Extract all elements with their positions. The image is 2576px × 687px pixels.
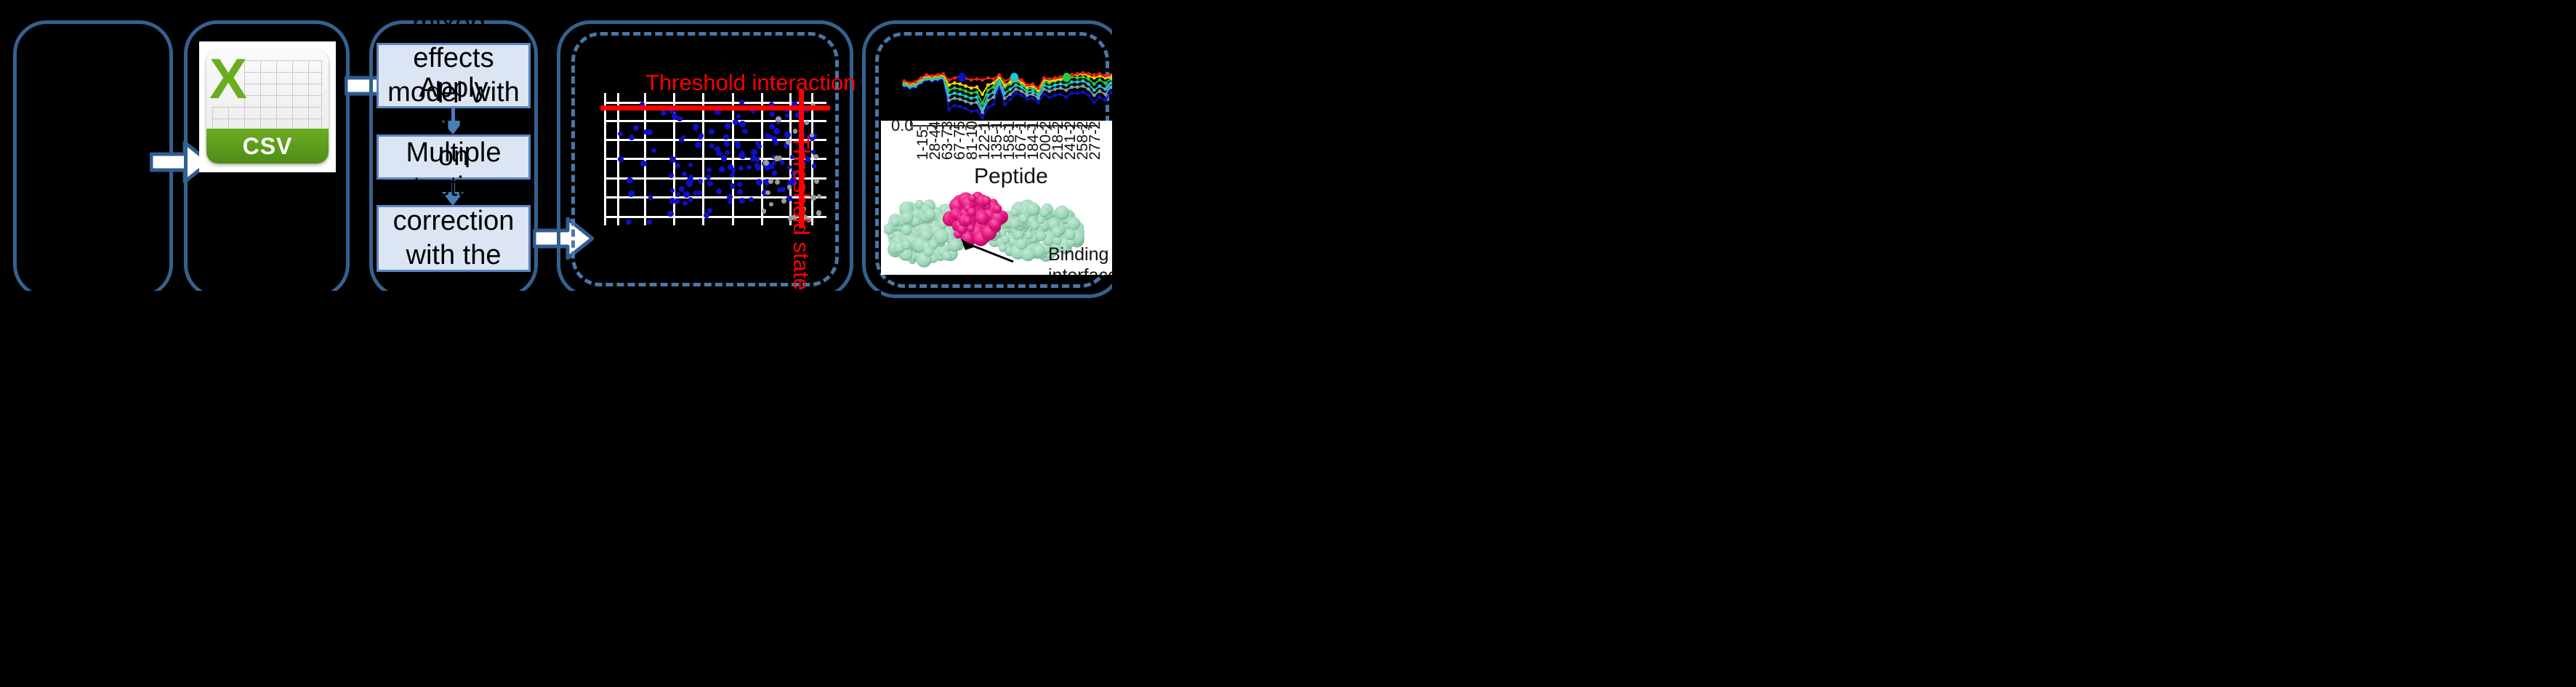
scatter-point [746, 165, 751, 169]
line-point [1059, 87, 1063, 90]
line-point [1070, 85, 1074, 89]
line-point [986, 84, 990, 87]
line-point [1064, 84, 1068, 87]
scatter-point-alt [805, 121, 809, 125]
scatter-point [628, 190, 635, 197]
line-point [1003, 103, 1007, 106]
line-point [1053, 84, 1057, 87]
scatter-point [661, 111, 667, 116]
scatter-point [724, 141, 730, 147]
line-point [992, 77, 996, 81]
scatter-point-alt [814, 179, 819, 184]
step-bh-box[interactable]: Multiple testing correction with the BH … [377, 205, 531, 272]
scatter-point [707, 181, 712, 186]
csv-icon-label: CSV [243, 133, 293, 160]
line-point [1009, 97, 1013, 101]
scatter-point [739, 121, 746, 127]
line-point [1042, 92, 1046, 96]
scatter-point [725, 123, 731, 129]
line-point [1064, 89, 1068, 92]
protein-surface-blob [901, 225, 912, 236]
scatter-point [618, 132, 622, 136]
line-point [1082, 71, 1085, 75]
line-point [1037, 87, 1040, 90]
scatter-point [739, 100, 744, 105]
scatter-point-alt [816, 210, 822, 216]
scatter-point [719, 166, 725, 172]
csv-icon-band: CSV [206, 129, 329, 164]
scatter-point [723, 134, 728, 140]
line-point [1076, 85, 1079, 89]
scatter-point [751, 149, 757, 155]
scatter-point [683, 201, 688, 206]
line-point [925, 73, 928, 77]
protein-surface-blob [949, 239, 961, 252]
line-point [1098, 84, 1102, 88]
scatter-point [651, 148, 656, 153]
scatter-point [755, 157, 760, 161]
ligand-surface-blob [968, 194, 976, 202]
scatter-point [765, 166, 770, 171]
line-point [1082, 79, 1085, 83]
line-point [947, 79, 951, 82]
line-point [1037, 100, 1040, 104]
line-point [1031, 92, 1034, 96]
ligand-surface-blob [975, 212, 989, 225]
line-point [953, 92, 957, 95]
scatter-point-alt [781, 198, 786, 203]
line-point [947, 84, 951, 87]
line-point [1092, 76, 1096, 80]
scatter-point [626, 220, 631, 225]
scatter-point [706, 174, 711, 180]
line-point [947, 99, 951, 103]
line-point [1076, 92, 1079, 95]
scatter-point [669, 173, 674, 178]
protein-surface-blob [1024, 231, 1033, 240]
scatter-point-alt [769, 202, 773, 206]
line-point [1070, 80, 1074, 84]
scatter-point-alt [765, 190, 770, 195]
mask-top-right [1112, 0, 2576, 687]
scatter-point [737, 189, 743, 195]
scatter-point [629, 134, 635, 140]
line-point [1037, 94, 1040, 97]
line-point [903, 79, 906, 83]
scatter-point [739, 198, 745, 204]
input-panel [13, 20, 173, 298]
line-point [930, 74, 934, 78]
scatter-point [730, 172, 735, 177]
scatter-point [733, 119, 738, 124]
line-point [914, 80, 917, 84]
line-point [1092, 89, 1096, 92]
line-point [1103, 81, 1107, 85]
line-point [986, 89, 990, 92]
scatter-point [675, 164, 680, 168]
scatter-point [725, 150, 730, 156]
line-point [1026, 97, 1029, 101]
scatter-point [749, 197, 754, 202]
line-point [970, 102, 973, 105]
scatter-point [695, 142, 701, 148]
scatter-point [770, 111, 776, 117]
scatter-point-alt [775, 180, 780, 185]
protein-surface-blob [1016, 238, 1027, 249]
scatter-point [618, 156, 624, 162]
ligand-surface-blob [993, 204, 1002, 213]
line-point [997, 73, 1001, 77]
line-point [1003, 97, 1007, 100]
line-point [981, 102, 984, 105]
line-point [1037, 97, 1040, 100]
scatter-point [709, 129, 715, 134]
threshold-interaction-label: Threshold interaction [645, 70, 856, 96]
threshold-state-label: Threshold state [788, 135, 814, 291]
scatter-point [780, 160, 785, 165]
legend-dot-green [1063, 73, 1071, 82]
scatter-point [750, 156, 755, 161]
line-point [1059, 75, 1063, 79]
scatter-point [772, 161, 776, 165]
scatter-point-alt [813, 154, 818, 159]
protein-surface-blob [923, 246, 933, 257]
scatter-point [667, 211, 674, 217]
protein-surface-blob [1064, 229, 1075, 240]
csv-file-icon: X CSV [199, 41, 336, 172]
scatter-point [693, 126, 697, 131]
line-point [992, 103, 996, 106]
line-point [964, 95, 967, 98]
scatter-point [688, 197, 693, 201]
line-point [1082, 75, 1085, 79]
line-point [1014, 87, 1018, 91]
line-point [1020, 94, 1023, 97]
protein-surface-blob [1055, 206, 1069, 220]
line-point [992, 90, 996, 94]
protein-surface-blob [1032, 244, 1045, 257]
line-point [958, 97, 962, 101]
protein-surface-blob [999, 244, 1007, 252]
scatter-point-alt [793, 129, 797, 133]
protein-surface-blob [1067, 217, 1080, 230]
ligand-surface-blob [967, 225, 975, 233]
line-point [1020, 79, 1023, 82]
line-point [1053, 76, 1057, 80]
protein-surface-blob [1014, 230, 1023, 240]
line-point [1026, 84, 1029, 87]
line-point [981, 111, 984, 114]
line-point [970, 92, 973, 95]
line-point [1103, 92, 1107, 96]
line-point [1087, 82, 1090, 86]
protein-surface-blob [924, 209, 935, 220]
line-point [981, 92, 984, 96]
scatter-point [693, 190, 699, 196]
scatter-point-alt [776, 116, 781, 121]
scatter-point [742, 129, 747, 134]
protein-surface-blob [1009, 217, 1020, 228]
line-point [947, 94, 951, 97]
line-point [1003, 84, 1007, 87]
legend-dot-cyan [1010, 73, 1018, 82]
line-point [1098, 79, 1102, 82]
scatter-point [709, 143, 715, 148]
line-point [981, 108, 984, 111]
line-point [1053, 94, 1057, 97]
scatter-point [772, 170, 778, 176]
scatter-point [738, 166, 744, 171]
peptide-axis-structure-card: 0.0 1-1528-4463-7367-7581-101122-129135-… [881, 121, 1112, 275]
line-point [992, 95, 996, 99]
scatter-point [647, 220, 652, 225]
line-point [970, 97, 973, 100]
protein-surface-blob [1039, 207, 1050, 217]
line-point [981, 116, 984, 119]
line-point [919, 76, 923, 80]
scatter-point [675, 193, 680, 197]
line-point [992, 81, 996, 85]
ligand-surface-blob [963, 216, 972, 225]
scatter-point [646, 129, 652, 135]
line-point [1103, 87, 1107, 91]
threshold-interaction-line [600, 105, 830, 111]
line-point [975, 90, 979, 94]
scatter-point [730, 183, 736, 189]
protein-surface-blob [1026, 202, 1039, 216]
line-point [1009, 87, 1013, 91]
line-point [986, 105, 990, 109]
line-point [1003, 92, 1007, 95]
line-point [1092, 82, 1096, 86]
line-point [953, 97, 957, 100]
line-point [941, 72, 945, 76]
line-point [970, 79, 973, 82]
line-point [1082, 84, 1085, 88]
line-point [981, 79, 984, 82]
scatter-point [736, 114, 741, 118]
line-point [1009, 92, 1013, 96]
line-point [1047, 85, 1051, 89]
ligand-surface-blob [989, 218, 1002, 231]
line-point [953, 76, 957, 80]
protein-surface-blob [901, 212, 914, 225]
protein-surface-blob [1037, 217, 1045, 224]
line-point [1053, 87, 1057, 91]
line-point [1098, 95, 1102, 99]
scatter-point [675, 199, 680, 204]
line-point [1082, 90, 1085, 94]
scatter-point [716, 150, 722, 156]
scatter-point [681, 135, 685, 140]
line-point [1064, 95, 1068, 99]
line-point [1092, 94, 1096, 97]
line-point [1042, 76, 1046, 80]
line-point [1076, 80, 1079, 84]
line-point [970, 110, 973, 113]
line-point [958, 92, 962, 96]
scatter-point [781, 187, 786, 192]
line-point [1026, 94, 1029, 97]
scatter-point [721, 155, 728, 161]
line-point [975, 77, 979, 81]
csv-icon-graphic: X CSV [206, 50, 329, 164]
workflow-diagram: X CSV Fit a linear mixed- effects model … [0, 0, 2576, 687]
line-point [1092, 100, 1096, 104]
line-point [1026, 90, 1029, 94]
line-point [975, 109, 979, 113]
line-point [1059, 92, 1063, 96]
line-point [1087, 72, 1090, 76]
line-point [953, 81, 957, 85]
scatter-point [736, 143, 741, 148]
line-point [1014, 92, 1018, 95]
line-point [1087, 77, 1090, 81]
scatter-point-alt [768, 179, 773, 184]
line-point [1087, 87, 1090, 91]
scatter-point-alt [763, 160, 768, 165]
line-point [1031, 82, 1034, 86]
line-point [1087, 94, 1090, 97]
scatter-point [707, 167, 712, 173]
scatter-point [682, 172, 687, 177]
line-point [1047, 77, 1051, 81]
scatter-point-alt [774, 156, 780, 161]
protein-surface-blob [1001, 235, 1010, 244]
line-point [1098, 72, 1102, 76]
line-point [953, 104, 957, 108]
mask-left-bottom [0, 298, 1122, 687]
scatter-point [755, 141, 760, 145]
line-point [1070, 92, 1074, 95]
scatter-point [756, 179, 762, 185]
scatter-point [698, 179, 703, 184]
line-point [958, 82, 962, 86]
line-point [1047, 95, 1051, 99]
scatter-point [627, 177, 632, 183]
gridline-h [604, 120, 826, 122]
line-point [964, 84, 967, 88]
line-point [986, 76, 990, 80]
line-point [908, 81, 911, 85]
binding-interface-annotation: Binding interface [1048, 244, 1112, 275]
line-point [1098, 89, 1102, 93]
line-point [953, 87, 957, 90]
ligand-surface-blob [981, 196, 991, 206]
protein-surface-blob [1018, 214, 1029, 224]
line-point [1103, 74, 1107, 78]
line-point [964, 89, 967, 93]
line-point [964, 100, 967, 103]
line-point [1092, 73, 1096, 77]
scatter-point [633, 125, 639, 131]
line-point [964, 107, 967, 111]
line-point [1076, 76, 1079, 80]
line-point [1020, 89, 1023, 93]
line-point [947, 108, 951, 111]
protein-surface-blob [891, 217, 900, 226]
scatter-point [737, 182, 742, 187]
line-point [958, 105, 962, 108]
scatter-point [688, 163, 693, 167]
scatter-point [648, 195, 653, 200]
scatter-point [716, 188, 723, 195]
line-point [975, 85, 979, 89]
scatter-point [728, 200, 732, 204]
scatter-point [669, 156, 676, 163]
line-point [1031, 97, 1034, 100]
ligand-surface-blob [967, 208, 976, 217]
x-axis-tick [911, 125, 913, 130]
protein-surface-blob [942, 252, 951, 261]
csv-icon-x-letter: X [208, 56, 249, 101]
protein-surface-blob [901, 239, 911, 249]
line-point [1003, 79, 1007, 83]
line-point [1047, 89, 1051, 93]
line-point [1059, 82, 1063, 86]
scatter-point-alt [762, 209, 767, 214]
line-point [947, 89, 951, 92]
legend-dot-blue [958, 73, 966, 82]
scatter-point [773, 128, 779, 134]
line-point [1076, 72, 1079, 76]
line-point [958, 87, 962, 91]
line-point [992, 85, 996, 89]
line-point [1103, 99, 1107, 103]
line-point [1031, 89, 1034, 93]
line-point [936, 73, 940, 77]
x-axis-tick-label: 277-284 [1087, 121, 1104, 160]
protein-surface-blob [1052, 226, 1063, 238]
line-point [970, 87, 973, 90]
line-point [1014, 84, 1018, 87]
